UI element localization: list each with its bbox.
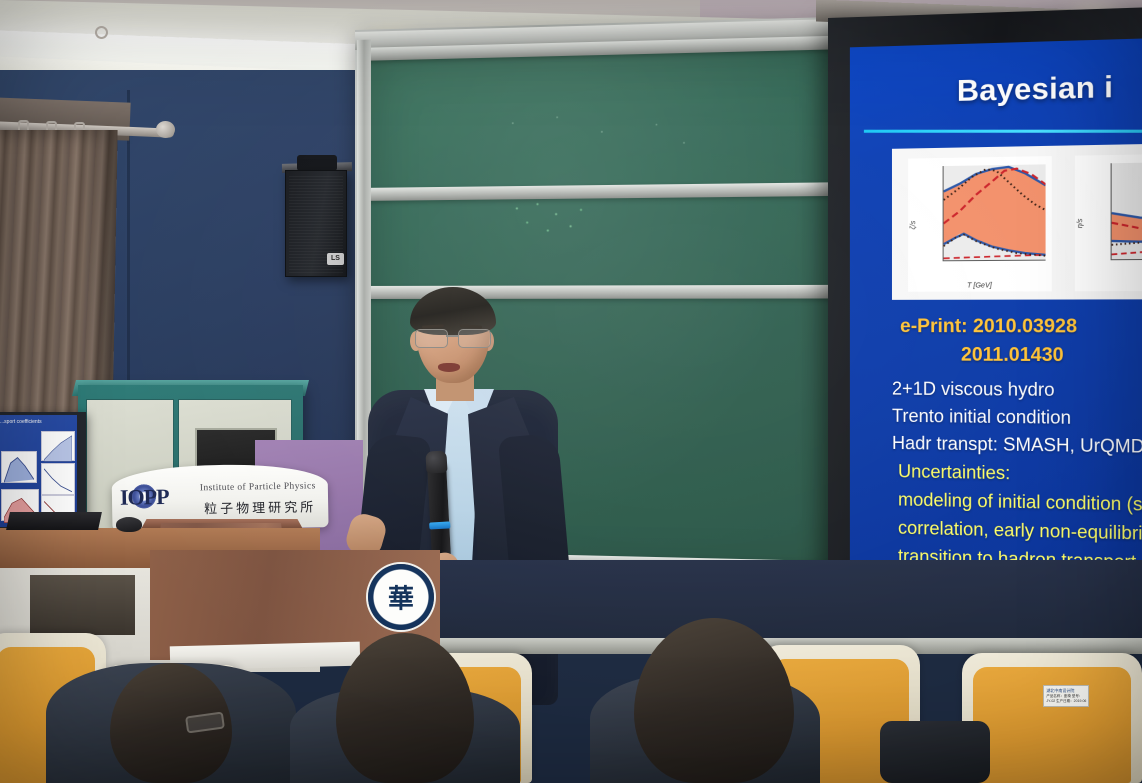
keyboard[interactable] [6, 512, 102, 530]
chart-xlabel: T [GeV] [908, 282, 1052, 290]
iopp-chinese-name: 粒子物理研究所 [204, 496, 316, 517]
chart-ylabel: ζ/s [910, 221, 917, 230]
glasses-lens-left [415, 329, 448, 348]
slide-bullet-initial-condition: Trento initial condition [892, 406, 1071, 429]
microphone-band [429, 521, 450, 529]
slide-uncertainty-line-2: correlation, early non-equilibriu [898, 518, 1142, 545]
slide-eprint-line-1: e-Print: 2010.03928 [900, 316, 1077, 339]
monitor-screen: ...sport coefficients [0, 415, 77, 527]
audience-foreground: 華 湖北中南设计院 产品名称：座椅 型号：JY-02 生产日期：2019.06 … [0, 560, 1142, 783]
pa-speaker: LS [285, 170, 347, 277]
ceiling-hook [95, 26, 108, 39]
chart-zeta-over-s: ζ/s T [GeV] [908, 156, 1052, 292]
chalk-residue [500, 109, 709, 164]
monitor-plot [1, 451, 37, 483]
chart-axes: 0.00 0.05 0.10 0.15 0.15 0.20 0.25 0.30 … [943, 164, 1046, 261]
monitor-slide-title: ...sport coefficients [0, 419, 42, 425]
chart-ylabel: η/s [1077, 219, 1084, 229]
led-screen-bezel: Bayesian i ζ/s T [GeV] [828, 7, 1142, 630]
computer-mouse[interactable] [116, 517, 142, 532]
slide-figure-panel: ζ/s T [GeV] [892, 143, 1142, 300]
chair-label-plate: 湖北中南设计院 产品名称：座椅 型号：JY-02 生产日期：2019.06 [1043, 685, 1089, 707]
speaker-bracket [297, 155, 337, 171]
slide-title: Bayesian i [957, 70, 1113, 109]
monitor-plot [41, 431, 75, 461]
slide-title-underline [864, 130, 1142, 133]
chalk-marks [507, 199, 600, 241]
ccnu-emblem-glyph: 華 [388, 579, 414, 616]
chart-curves [1112, 162, 1142, 260]
ccnu-emblem-icon: 華 [368, 564, 434, 630]
slide-bullet-hadronic-transport: Hadr transpt: SMASH, UrQMD [892, 433, 1142, 458]
microphone-head-icon [425, 451, 447, 474]
slide-bullet-hydro: 2+1D viscous hydro [892, 378, 1055, 401]
lecture-hall-scene: LS Bayesian i ζ/s T [GeV] [0, 0, 1142, 783]
slide-uncertainty-line-1: modeling of initial condition (sh [898, 489, 1142, 516]
presenter-glasses-icon [413, 329, 493, 347]
iopp-wordmark: IOPP [120, 484, 169, 511]
audience-bag [880, 721, 990, 783]
slide-uncertainties-heading: Uncertainties: [898, 461, 1010, 484]
slide-eprint-line-2: 2011.01430 [961, 344, 1064, 367]
glasses-bridge [446, 335, 458, 337]
chart-curves [944, 164, 1046, 260]
speaker-brand-label: LS [327, 253, 344, 265]
chart-axes: JETSCAPE 0.0 0.1 0.2 0.3 0.4 0.15 0. [1111, 162, 1142, 261]
chart-eta-over-s: η/s [1075, 153, 1142, 291]
monitor-plot [41, 463, 75, 495]
glasses-lens-right [458, 329, 491, 348]
presenter-mouth [438, 363, 460, 372]
iopp-english-name: Institute of Particle Physics [200, 481, 316, 493]
chair-label-body: 产品名称：座椅 型号：JY-02 生产日期：2019.06 [1046, 694, 1086, 705]
presentation-slide: Bayesian i ζ/s T [GeV] [850, 37, 1142, 624]
